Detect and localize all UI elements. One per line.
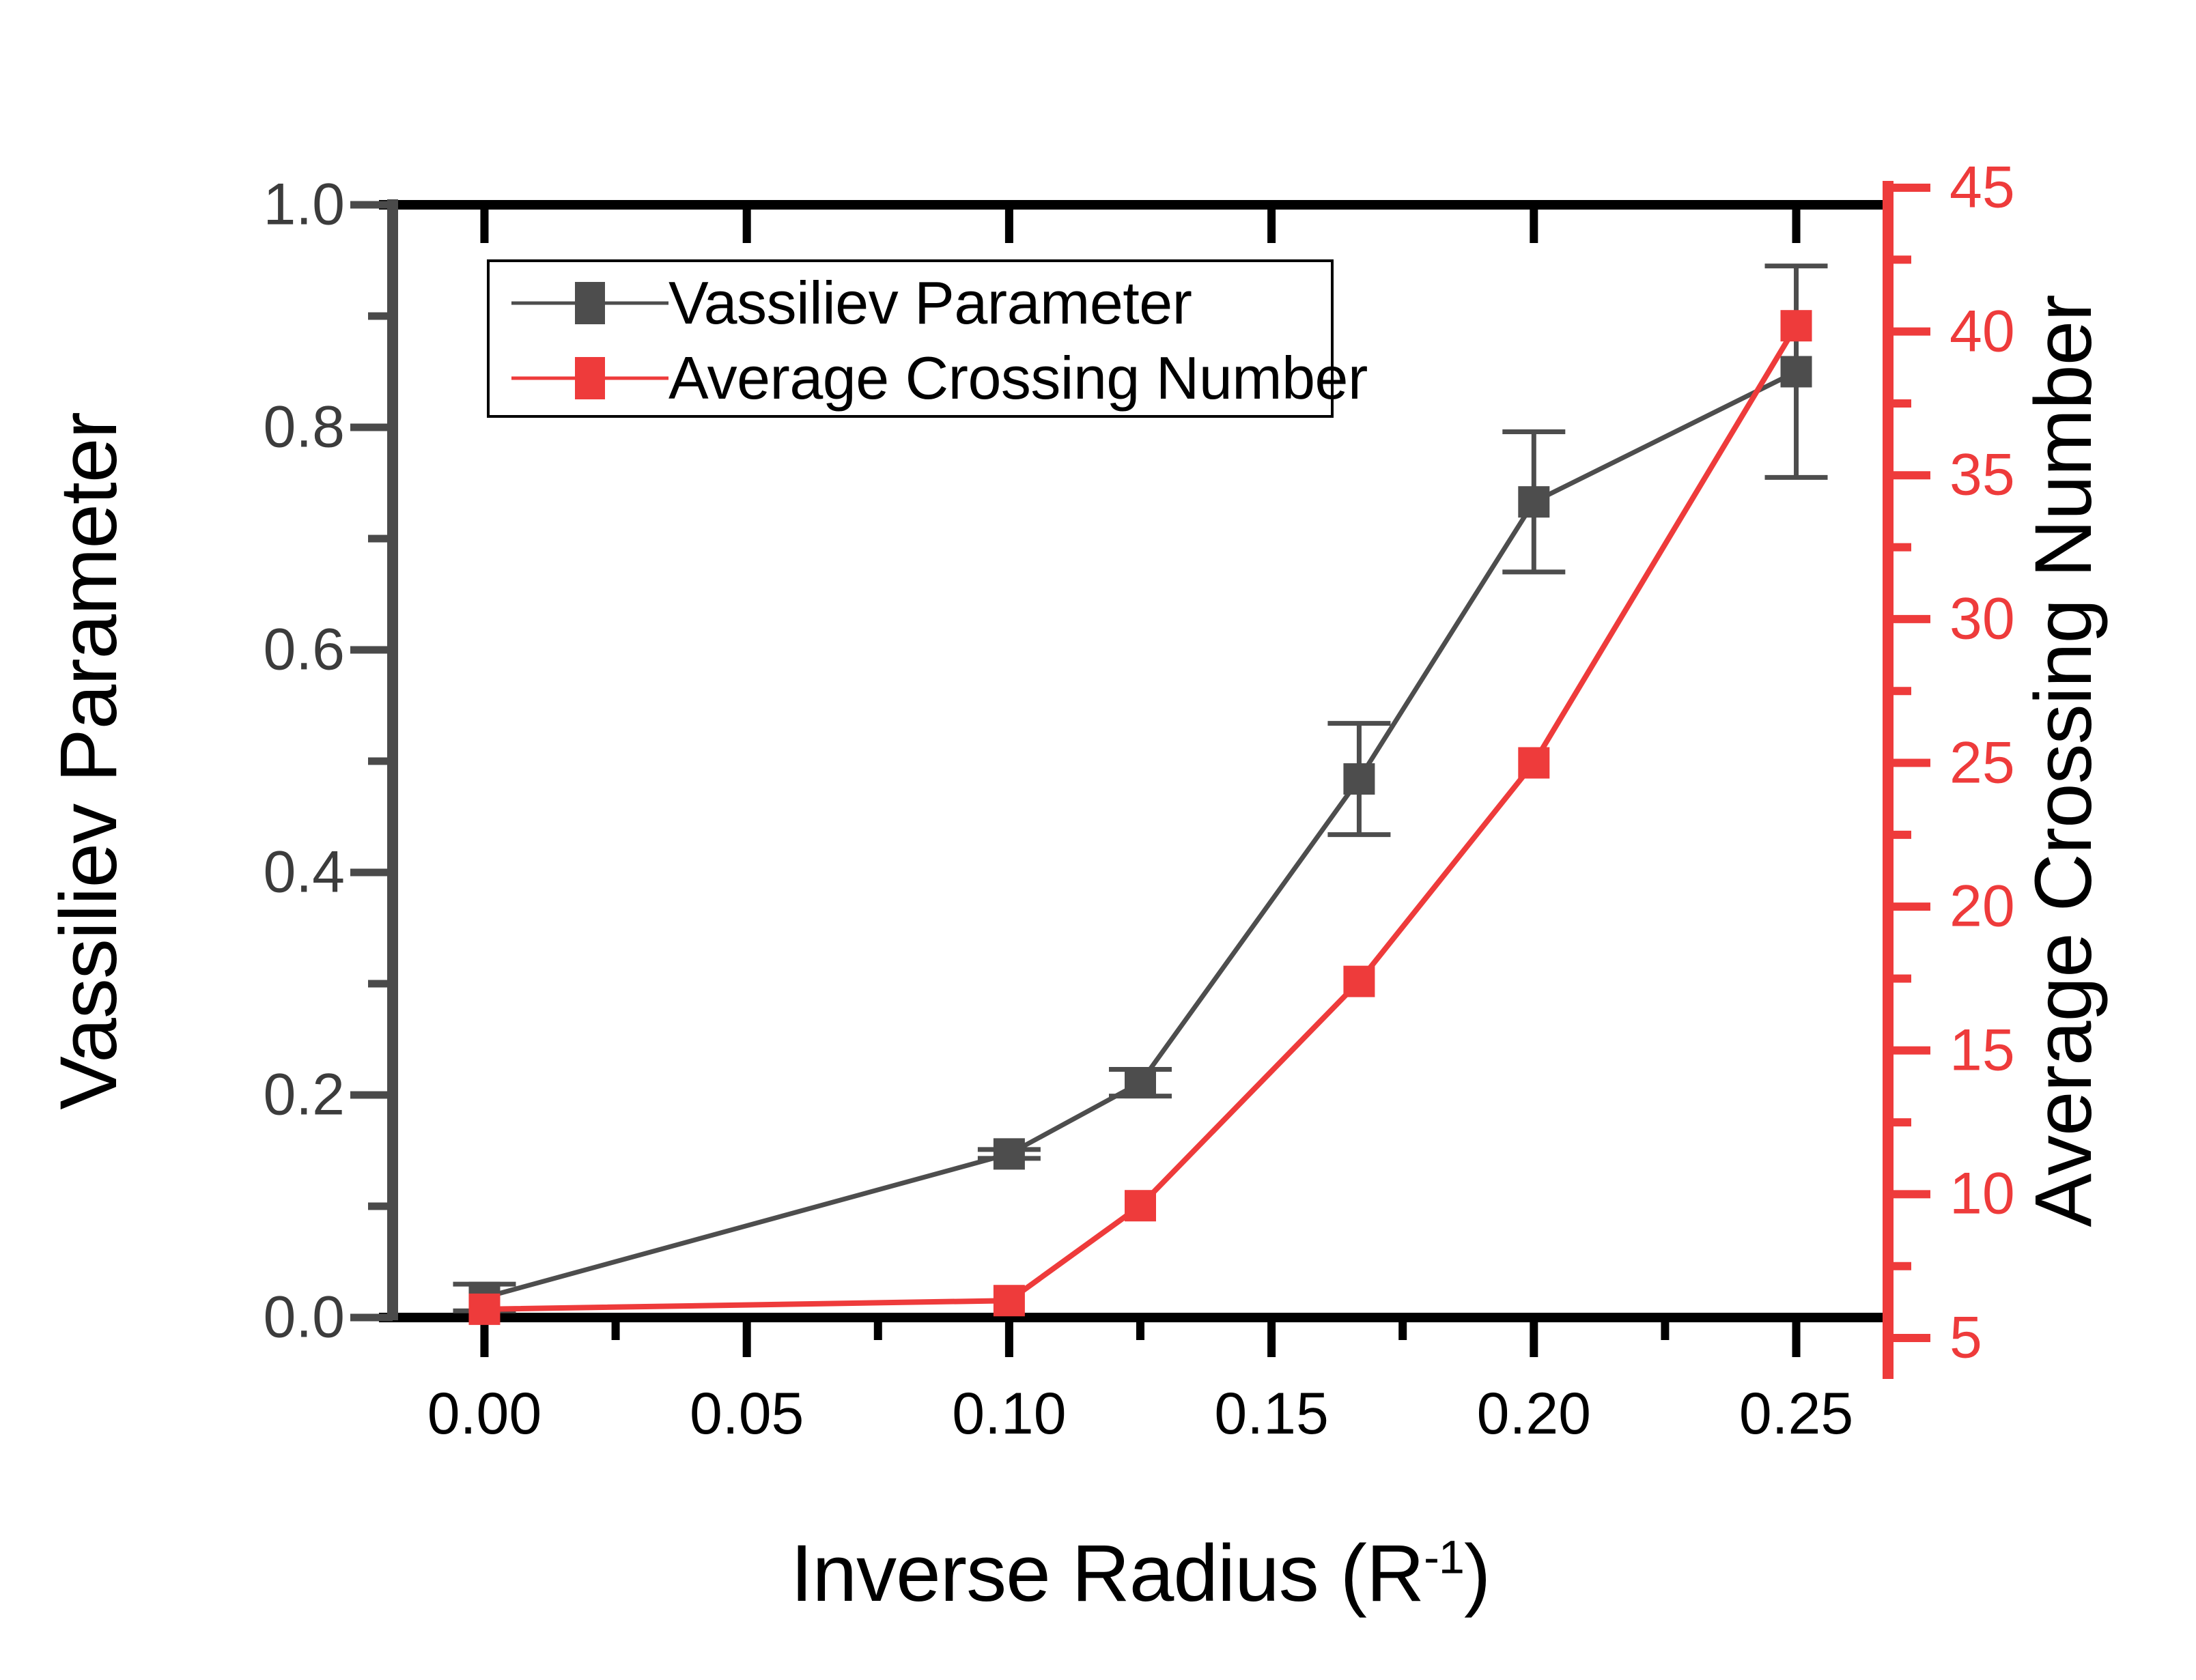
x-axis-title-exponent: -1 <box>1424 1531 1464 1584</box>
y-axis-right-tick-label: 15 <box>1949 1016 2015 1084</box>
data-point-marker-acn[interactable] <box>994 1285 1025 1316</box>
x-axis-tick-label: 0.00 <box>427 1380 541 1448</box>
y-axis-left-tick-label: 0.2 <box>171 1062 345 1129</box>
y-axis-right-tick-label: 35 <box>1949 442 2015 509</box>
data-point-marker-vassiliev[interactable] <box>1781 356 1812 388</box>
legend-item-vassiliev-parameter[interactable]: Vassiliev Parameter <box>490 269 1331 337</box>
y-axis-left-tick-label: 1.0 <box>171 171 345 239</box>
y-axis-right-tick-label: 45 <box>1949 154 2015 222</box>
y-axis-left-tick-label: 0.0 <box>171 1284 345 1352</box>
legend-item-average-crossing-number[interactable]: Average Crossing Number <box>490 344 1331 412</box>
legend-square-marker-icon <box>575 357 605 399</box>
series-line-vassiliev <box>484 372 1796 1298</box>
data-point-marker-acn[interactable] <box>1343 966 1375 997</box>
x-axis-tick-label: 0.10 <box>952 1380 1066 1448</box>
y-axis-right-tick-label: 10 <box>1949 1161 2015 1228</box>
y-axis-right-tick-label: 20 <box>1949 873 2015 941</box>
series-line-acn <box>484 326 1796 1309</box>
data-point-marker-vassiliev[interactable] <box>1343 763 1375 795</box>
data-point-marker-acn[interactable] <box>1518 748 1549 779</box>
data-point-marker-vassiliev[interactable] <box>1125 1067 1156 1098</box>
legend-square-marker-icon <box>575 282 605 324</box>
legend-label-vassiliev: Vassiliev Parameter <box>668 268 1192 338</box>
chart-figure: Vassiliev Parameter Average Crossing Num… <box>0 0 2196 1680</box>
y-axis-left-tick-label: 0.4 <box>171 839 345 907</box>
data-point-marker-vassiliev[interactable] <box>994 1138 1025 1169</box>
x-axis-tick-label: 0.25 <box>1739 1380 1853 1448</box>
x-axis-title: Inverse Radius (R-1) <box>791 1527 1491 1620</box>
chart-legend[interactable]: Vassiliev Parameter Average Crossing Num… <box>487 259 1334 418</box>
x-axis-title-tail: ) <box>1464 1528 1490 1619</box>
data-point-marker-acn[interactable] <box>468 1294 500 1325</box>
y-axis-right-tick-label: 5 <box>1949 1305 1982 1372</box>
legend-label-acn: Average Crossing Number <box>668 343 1368 413</box>
legend-key-vassiliev <box>511 283 668 324</box>
y-axis-right-tick-label: 40 <box>1949 298 2015 365</box>
y-axis-left-tick-label: 0.6 <box>171 616 345 684</box>
x-axis-tick-label: 0.20 <box>1477 1380 1591 1448</box>
y-axis-right-tick-label: 30 <box>1949 585 2015 653</box>
data-point-marker-acn[interactable] <box>1781 310 1812 341</box>
x-axis-tick-label: 0.05 <box>690 1380 804 1448</box>
data-point-marker-acn[interactable] <box>1125 1190 1156 1221</box>
y-axis-right-title: Average Crossing Number <box>2017 295 2110 1227</box>
y-axis-right-tick-label: 25 <box>1949 729 2015 797</box>
x-axis-tick-label: 0.15 <box>1214 1380 1328 1448</box>
y-axis-left-tick-label: 0.8 <box>171 394 345 461</box>
x-axis-title-base: Inverse Radius (R <box>791 1528 1424 1619</box>
y-axis-left-title: Vassiliev Parameter <box>42 412 135 1110</box>
legend-key-acn <box>511 358 668 399</box>
data-point-marker-vassiliev[interactable] <box>1518 486 1549 517</box>
